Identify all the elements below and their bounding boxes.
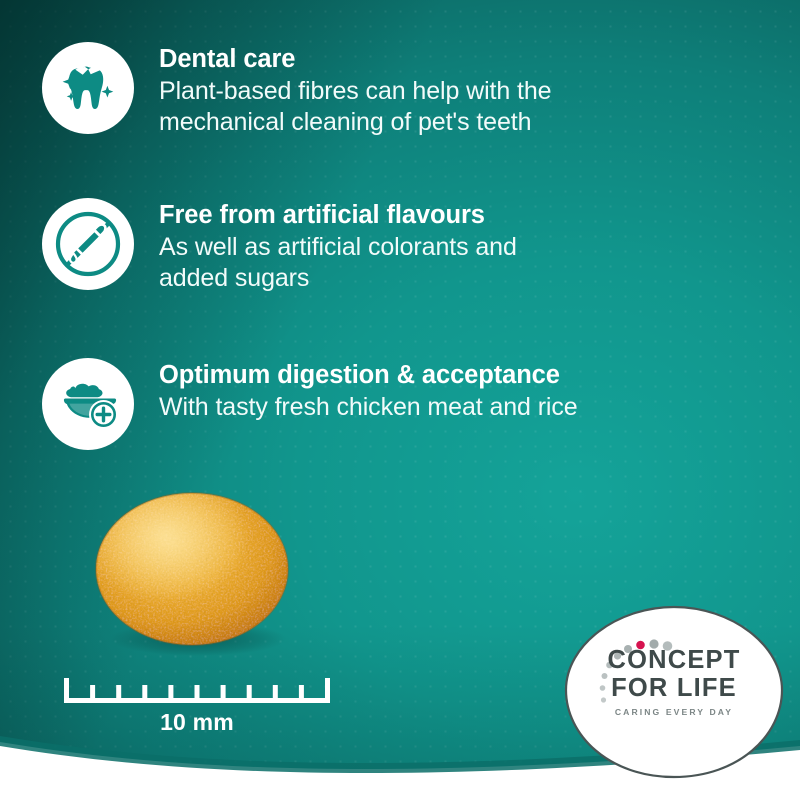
no-dropper-icon [51,207,125,281]
feature-item-free-from-artificial-flavours: Free from artificial flavours As well as… [42,198,517,295]
product-benefits-panel: Dental care Plant-based fibres can help … [0,0,800,800]
feature-title: Dental care [159,45,551,75]
tooth-icon [55,55,121,121]
feature-body: Plant-based fibres can help with the mec… [159,76,551,139]
scale-ruler [64,676,330,706]
feature-text: Free from artificial flavours As well as… [159,198,517,295]
icon-badge [42,358,134,450]
feature-body: As well as artificial colorants and adde… [159,232,517,295]
feature-title: Optimum digestion & acceptance [159,361,578,391]
feature-body: With tasty fresh chicken meat and rice [159,392,578,424]
icon-badge [42,198,134,290]
scale-label: 10 mm [64,709,330,736]
feature-item-optimum-digestion: Optimum digestion & acceptance With tast… [42,358,578,450]
feature-item-dental-care: Dental care Plant-based fibres can help … [42,42,551,139]
feature-text: Optimum digestion & acceptance With tast… [159,358,578,423]
kibble-photo [88,487,303,672]
icon-badge [42,42,134,134]
feature-title: Free from artificial flavours [159,201,517,231]
logo-accent-dot [636,641,645,650]
food-bowl-plus-icon [51,367,125,441]
kibble-shape [88,487,303,672]
concept-for-life-logo [563,604,785,780]
feature-text: Dental care Plant-based fibres can help … [159,42,551,139]
